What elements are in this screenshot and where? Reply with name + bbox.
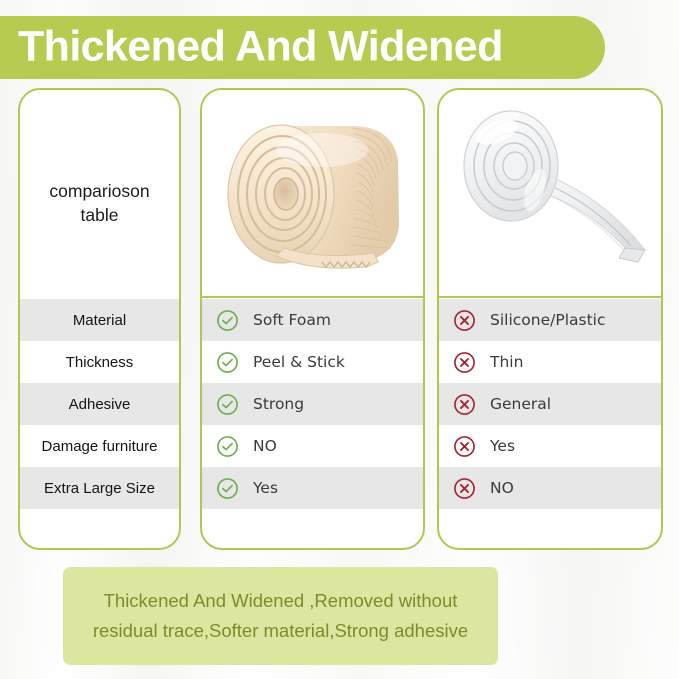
cell-value: Strong — [253, 395, 304, 413]
cell-value: Yes — [490, 437, 515, 455]
row-label-adhesive: Adhesive — [20, 383, 179, 425]
circle-check-icon — [216, 393, 239, 416]
cell-value: NO — [253, 437, 277, 455]
table-row: NO — [202, 425, 423, 467]
product-value-rows: Soft Foam Peel & Stick Strong — [202, 299, 423, 548]
footer-note-box: Thickened And Widened ,Removed without r… — [63, 567, 498, 665]
cell-value: Soft Foam — [253, 311, 331, 329]
table-row: Silicone/Plastic — [439, 299, 661, 341]
circle-check-icon — [216, 309, 239, 332]
circle-check-icon — [216, 351, 239, 374]
circle-x-icon — [453, 477, 476, 500]
label-rows: Material Thickness Adhesive Damage furni… — [20, 299, 179, 548]
product-column-card: Soft Foam Peel & Stick Strong — [200, 88, 425, 550]
circle-x-icon — [453, 435, 476, 458]
table-row: Yes — [439, 425, 661, 467]
competitor-column-card: Silicone/Plastic Thin General — [437, 88, 663, 550]
row-label-thickness: Thickness — [20, 341, 179, 383]
table-row: Thin — [439, 341, 661, 383]
cell-value: NO — [490, 479, 514, 497]
table-row: Yes — [202, 467, 423, 509]
cell-value: Yes — [253, 479, 278, 497]
circle-check-icon — [216, 435, 239, 458]
foam-roll-image — [202, 90, 423, 298]
comparison-label-card: comparioson table Material Thickness Adh… — [18, 88, 181, 550]
cell-value: Silicone/Plastic — [490, 311, 605, 329]
comparison-table-heading: comparioson table — [20, 180, 179, 227]
cell-value: Thin — [490, 353, 523, 371]
beige-foam-roll-illustration — [202, 90, 423, 296]
table-row: Peel & Stick — [202, 341, 423, 383]
circle-x-icon — [453, 393, 476, 416]
table-row: General — [439, 383, 661, 425]
infographic-page: Thickened And Widened comparioson table … — [0, 0, 679, 679]
footer-note-text: Thickened And Widened ,Removed without r… — [75, 586, 486, 645]
circle-x-icon — [453, 351, 476, 374]
cell-value: Peel & Stick — [253, 353, 345, 371]
cell-value: General — [490, 395, 551, 413]
table-row: NO — [439, 467, 661, 509]
clear-silicone-strip-illustration — [439, 90, 661, 296]
table-row: Strong — [202, 383, 423, 425]
row-label-damage-furniture: Damage furniture — [20, 425, 179, 467]
competitor-value-rows: Silicone/Plastic Thin General — [439, 299, 661, 548]
circle-check-icon — [216, 477, 239, 500]
row-label-material: Material — [20, 299, 179, 341]
header-banner: Thickened And Widened — [0, 16, 605, 79]
page-title: Thickened And Widened — [18, 22, 503, 71]
circle-x-icon — [453, 309, 476, 332]
table-row: Soft Foam — [202, 299, 423, 341]
row-label-extra-large-size: Extra Large Size — [20, 467, 179, 509]
silicone-strip-image — [439, 90, 661, 298]
